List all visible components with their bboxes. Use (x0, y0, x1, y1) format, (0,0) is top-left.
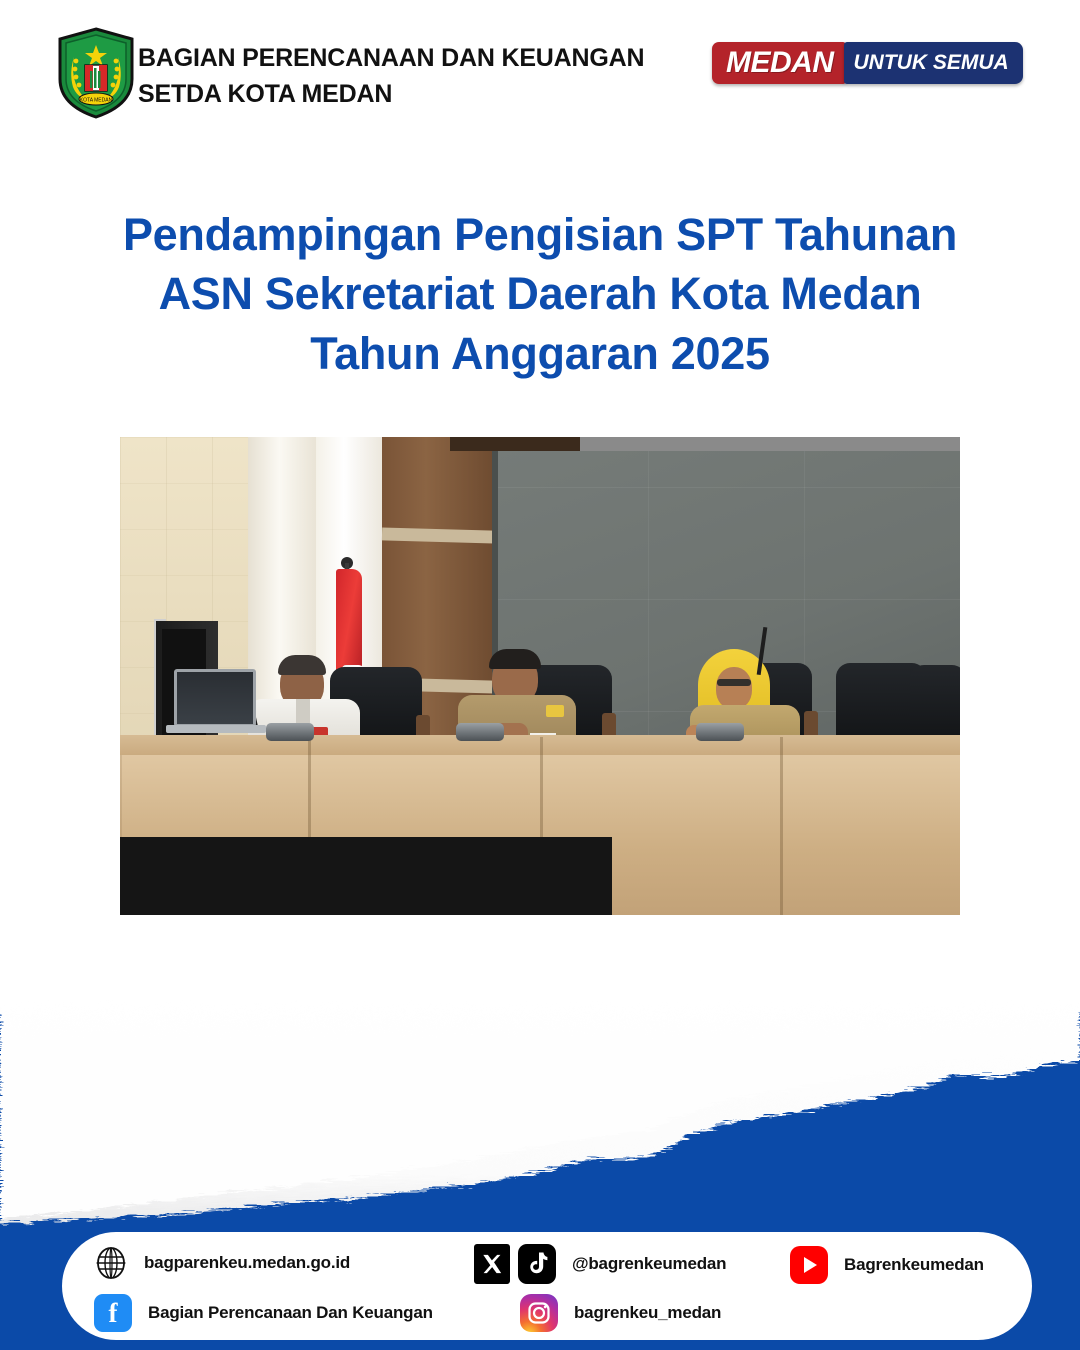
page-header: KOTA MEDAN BAGIAN PERENCANAAN DAN KEUANG… (0, 0, 1080, 140)
event-photo (120, 437, 960, 915)
photo-person-3-glasses (717, 679, 751, 686)
photo-indonesian-flag-red (336, 569, 362, 679)
photo-person-3-face (716, 667, 752, 709)
photo-desk-lower-panel (120, 837, 612, 915)
footer-contact-card: bagparenkeu.medan.go.id f Bagian Perenca… (62, 1232, 1032, 1340)
facebook-icon: f (94, 1294, 132, 1332)
photo-mic-base-2 (456, 723, 504, 741)
contact-website[interactable]: bagparenkeu.medan.go.id (94, 1246, 350, 1280)
title-line-2: ASN Sekretariat Daerah Kota Medan (0, 264, 1080, 323)
page-title: Pendampingan Pengisian SPT Tahunan ASN S… (0, 205, 1080, 383)
photo-desk-seam-3 (780, 737, 783, 915)
photo-mic-base-1 (266, 723, 314, 741)
badge-untuk-semua-text: UNTUK SEMUA (844, 42, 1023, 84)
photo-mic-base-3 (696, 723, 744, 741)
org-line-1: BAGIAN PERENCANAAN DAN KEUANGAN (138, 40, 644, 76)
instagram-icon (520, 1294, 558, 1332)
medan-untuk-semua-badge: MEDAN UNTUK SEMUA (712, 42, 1023, 84)
contact-facebook[interactable]: f Bagian Perencanaan Dan Keuangan (94, 1294, 433, 1332)
photo-person-2-insignia (546, 705, 564, 717)
photo-chair-5 (910, 665, 960, 745)
title-line-1: Pendampingan Pengisian SPT Tahunan (0, 205, 1080, 264)
contact-instagram-label: bagrenkeu_medan (574, 1303, 721, 1323)
organization-name: BAGIAN PERENCANAAN DAN KEUANGAN SETDA KO… (138, 40, 644, 113)
photo-person-1-hair (278, 655, 326, 675)
photo-wood-shadow (450, 437, 580, 451)
torn-paper-edge (0, 1000, 1080, 1230)
svg-text:KOTA MEDAN: KOTA MEDAN (80, 98, 113, 104)
photo-laptop-base (166, 725, 266, 733)
title-line-3: Tahun Anggaran 2025 (0, 324, 1080, 383)
photo-laptop (174, 669, 256, 727)
medan-city-crest-icon: KOTA MEDAN (54, 27, 138, 119)
contact-youtube-label: Bagrenkeumedan (844, 1255, 984, 1275)
contact-website-label: bagparenkeu.medan.go.id (144, 1253, 350, 1273)
contact-instagram[interactable]: bagrenkeu_medan (520, 1294, 721, 1332)
tiktok-icon (518, 1244, 556, 1284)
contact-facebook-label: Bagian Perencanaan Dan Keuangan (148, 1303, 433, 1323)
contact-youtube[interactable]: Bagrenkeumedan (790, 1246, 984, 1284)
youtube-icon (790, 1246, 828, 1284)
contact-x-tiktok-label: @bagrenkeumedan (572, 1254, 726, 1274)
x-twitter-icon (474, 1244, 510, 1284)
photo-person-2-hair (489, 649, 541, 669)
globe-icon (94, 1246, 128, 1280)
org-line-2: SETDA KOTA MEDAN (138, 76, 644, 112)
contact-x-tiktok[interactable]: @bagrenkeumedan (474, 1244, 726, 1284)
badge-medan-text: MEDAN (712, 42, 846, 84)
